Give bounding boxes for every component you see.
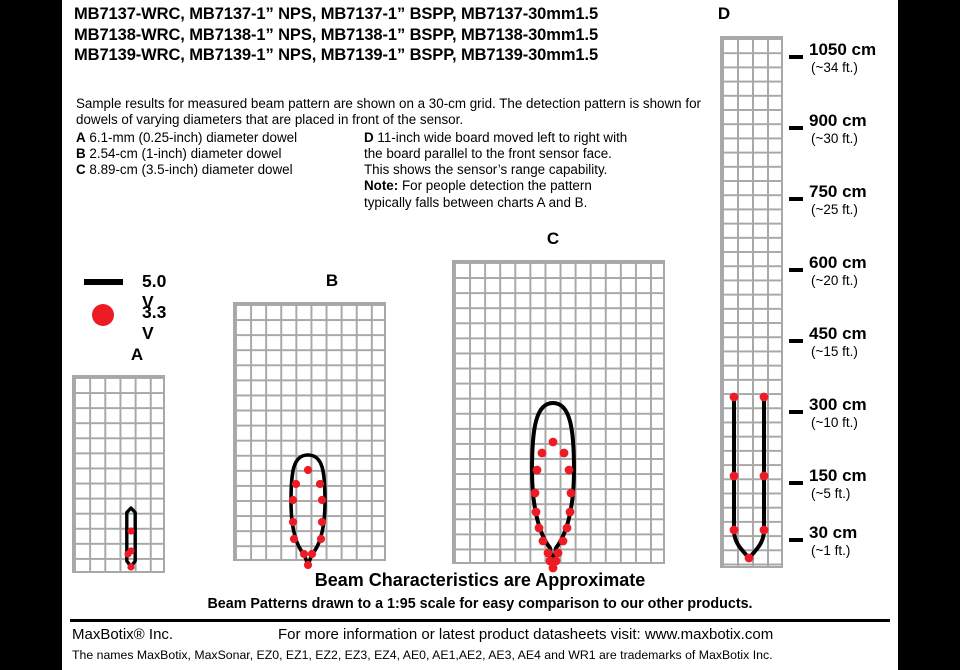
scale-ft-30: (~1 ft.): [811, 543, 850, 558]
list-item: typically falls between charts A and B.: [364, 195, 714, 211]
list-item: the board parallel to the front sensor f…: [364, 146, 714, 162]
item-text: the board parallel to the front sensor f…: [364, 146, 612, 161]
datasheet-page: MB7137-WRC, MB7137-1” NPS, MB7137-1” BSP…: [0, 0, 960, 670]
trademark-notice: The names MaxBotix, MaxSonar, EZ0, EZ1, …: [72, 648, 773, 662]
scale-cm-300: 300 cm: [809, 395, 867, 415]
item-label: D: [364, 130, 374, 145]
scale-ft-450: (~15 ft.): [811, 344, 858, 359]
chart-title-c: C: [518, 229, 588, 249]
scale-tick-30: [789, 538, 803, 542]
footer-headline: Beam Characteristics are Approximate: [62, 570, 898, 591]
chart-title-a: A: [102, 345, 172, 365]
list-item: Note: For people detection the pattern: [364, 178, 714, 194]
dowel-list: A 6.1-mm (0.25-inch) diameter dowel B 2.…: [76, 130, 366, 179]
scale-ft-1050: (~34 ft.): [811, 60, 858, 75]
brand-name: MaxBotix® Inc.: [72, 626, 173, 643]
scale-cm-600: 600 cm: [809, 253, 867, 273]
description-block: Sample results for measured beam pattern…: [76, 96, 716, 130]
product-title-line-3: MB7139-WRC, MB7139-1” NPS, MB7139-1” BSP…: [74, 45, 724, 66]
white-sheet: MB7137-WRC, MB7137-1” NPS, MB7137-1” BSP…: [62, 0, 898, 670]
item-text: This shows the sensor’s range capability…: [364, 162, 607, 177]
thick-line-swatch-icon: [84, 279, 123, 285]
item-label: A: [76, 130, 86, 145]
beam-outline-5v: [532, 403, 574, 567]
scale-cm-750: 750 cm: [809, 182, 867, 202]
scale-ft-300: (~10 ft.): [811, 415, 858, 430]
item-text: 11-inch wide board moved left to right w…: [377, 130, 627, 145]
item-text: 6.1-mm (0.25-inch) diameter dowel: [89, 130, 297, 145]
beam-outline-5v: [734, 397, 764, 558]
scale-ft-600: (~20 ft.): [811, 273, 858, 288]
scale-cm-900: 900 cm: [809, 111, 867, 131]
board-note-list: D 11-inch wide board moved left to right…: [364, 130, 714, 211]
product-title-line-2: MB7138-WRC, MB7138-1” NPS, MB7138-1” BSP…: [74, 25, 724, 46]
visit-website-text: For more information or latest product d…: [278, 626, 773, 643]
beam-dots-3v: [289, 466, 326, 569]
beam-dots-3v: [531, 438, 576, 573]
scale-tick-900: [789, 126, 803, 130]
chart-title-b: B: [297, 271, 367, 291]
item-text: typically falls between charts A and B.: [364, 195, 587, 210]
list-item: D 11-inch wide board moved left to right…: [364, 130, 714, 146]
scale-cm-1050: 1050 cm: [809, 40, 876, 60]
item-text: 8.89-cm (3.5-inch) diameter dowel: [89, 162, 292, 177]
note-label: Note:: [364, 178, 398, 193]
chart-beam-b: [233, 302, 388, 577]
footer-divider: [70, 619, 890, 622]
scale-cm-30: 30 cm: [809, 523, 857, 543]
list-item: This shows the sensor’s range capability…: [364, 162, 714, 178]
scale-cm-150: 150 cm: [809, 466, 867, 486]
footer-subline: Beam Patterns drawn to a 1:95 scale for …: [62, 596, 898, 612]
item-text: For people detection the pattern: [402, 178, 592, 193]
scale-tick-450: [789, 339, 803, 343]
scale-cm-450: 450 cm: [809, 324, 867, 344]
product-title-block: MB7137-WRC, MB7137-1” NPS, MB7137-1” BSP…: [74, 4, 724, 66]
scale-ft-150: (~5 ft.): [811, 486, 850, 501]
scale-ft-750: (~25 ft.): [811, 202, 858, 217]
scale-tick-600: [789, 268, 803, 272]
item-text: 2.54-cm (1-inch) diameter dowel: [89, 146, 281, 161]
scale-tick-1050: [789, 55, 803, 59]
chart-beam-c: [452, 260, 667, 580]
chart-beam-a: [72, 375, 167, 575]
description-paragraph: Sample results for measured beam pattern…: [76, 96, 706, 129]
chart-title-d: D: [689, 4, 759, 24]
list-item: A 6.1-mm (0.25-inch) diameter dowel: [76, 130, 366, 146]
beam-outline-5v: [127, 508, 135, 567]
red-dot-swatch-icon: [92, 304, 114, 326]
list-item: C 8.89-cm (3.5-inch) diameter dowel: [76, 162, 366, 178]
product-title-line-1: MB7137-WRC, MB7137-1” NPS, MB7137-1” BSP…: [74, 4, 724, 25]
item-label: B: [76, 146, 86, 161]
scale-tick-750: [789, 197, 803, 201]
scale-tick-300: [789, 410, 803, 414]
list-item: B 2.54-cm (1-inch) diameter dowel: [76, 146, 366, 162]
scale-tick-150: [789, 481, 803, 485]
chart-beam-d: [714, 36, 786, 576]
legend-label: 3.3 V: [142, 302, 166, 344]
scale-ft-900: (~30 ft.): [811, 131, 858, 146]
item-label: C: [76, 162, 86, 177]
